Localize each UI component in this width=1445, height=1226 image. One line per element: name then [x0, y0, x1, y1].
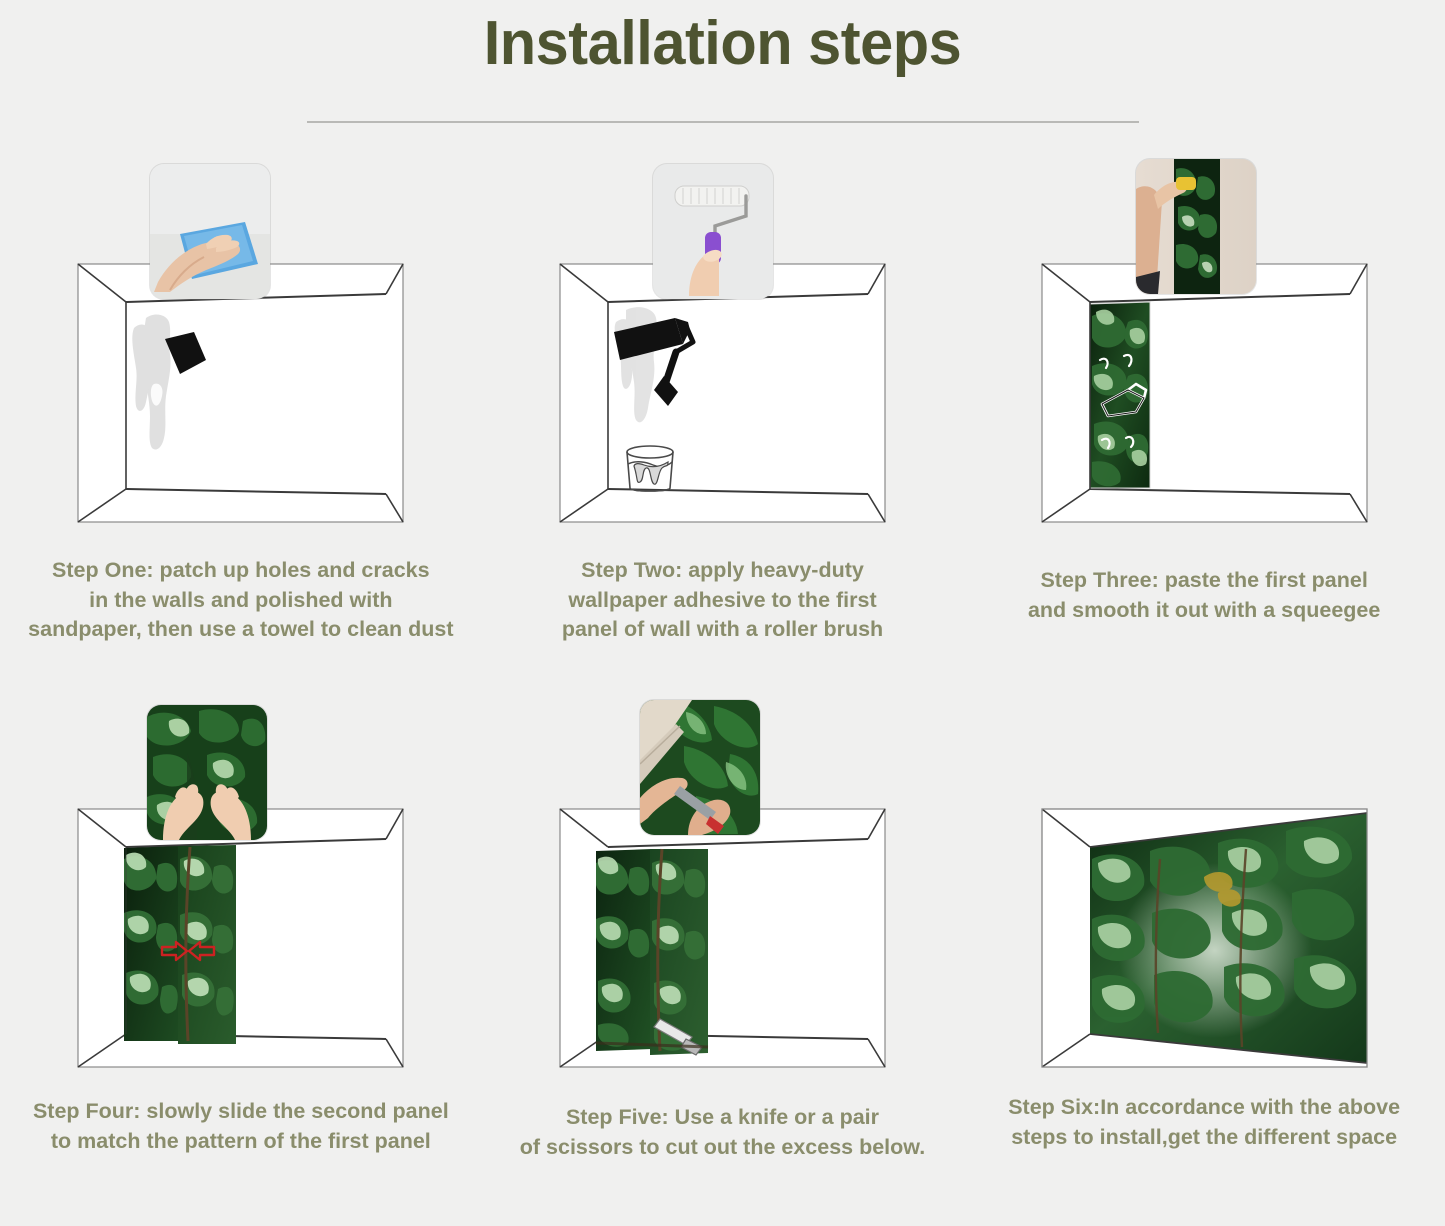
title-divider: [307, 121, 1139, 123]
page-title: Installation steps: [29, 0, 1416, 79]
thumbnail-applying-panel-squeegee-icon: [1136, 159, 1256, 294]
step-five-caption: Step Five: Use a knife or a pair of scis…: [482, 1103, 964, 1162]
step-two-caption: Step Two: apply heavy-duty wallpaper adh…: [482, 556, 964, 645]
step-card-five: Step Five: Use a knife or a pair of scis…: [482, 693, 964, 1226]
step-card-three: Step Three: paste the first panel and sm…: [963, 148, 1445, 681]
room-diagram-step-six: [1032, 801, 1377, 1081]
step-card-four: Step Four: slowly slide the second panel…: [0, 693, 482, 1226]
room-diagram-step-three: [1032, 256, 1377, 536]
thumbnail-hand-wiping-wall-icon: [150, 164, 270, 299]
step-three-caption: Step Three: paste the first panel and sm…: [963, 566, 1445, 625]
thumbnail-two-hands-smoothing-icon: [147, 705, 267, 840]
foliage-panel-first: [124, 846, 180, 1041]
room-diagram-step-five: [550, 801, 895, 1081]
thumbnail-hand-with-roller-icon: [653, 164, 773, 299]
room-diagram-step-four: [68, 801, 413, 1081]
foliage-panel-first: [596, 849, 652, 1051]
step-six-caption: Step Six:In accordance with the above st…: [963, 1093, 1445, 1152]
step-card-one: Step One: patch up holes and cracks in t…: [0, 148, 482, 681]
step-four-caption: Step Four: slowly slide the second panel…: [0, 1097, 482, 1156]
thumbnail-trimming-with-blade-icon: [640, 700, 760, 835]
step-card-six: Step Six:In accordance with the above st…: [963, 693, 1445, 1226]
installation-steps-grid: Step One: patch up holes and cracks in t…: [0, 148, 1445, 1226]
step-one-caption: Step One: patch up holes and cracks in t…: [0, 556, 482, 645]
step-card-two: Step Two: apply heavy-duty wallpaper adh…: [482, 148, 964, 681]
